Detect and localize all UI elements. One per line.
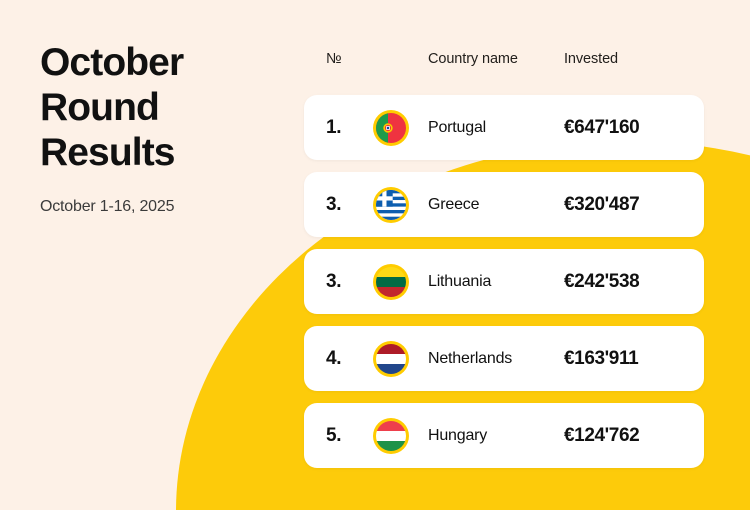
invested-value: €242'538 [564, 271, 682, 293]
rank-value: 3. [326, 194, 372, 216]
rank-value: 3. [326, 271, 372, 293]
flag-netherlands-icon [372, 340, 428, 378]
header-country: Country name [428, 51, 564, 67]
invested-value: €163'911 [564, 348, 682, 370]
table-row[interactable]: 3. [304, 172, 704, 237]
title-block: October Round Results October 1-16, 2025 [40, 40, 285, 217]
country-name: Greece [428, 196, 564, 214]
flag-portugal-icon [372, 109, 410, 147]
table-row[interactable]: 3. Lithuania €242'538 [304, 249, 704, 314]
table-body: 1. Portugal [304, 95, 704, 468]
invested-value: €320'487 [564, 194, 682, 216]
results-table: № Country name Invested 1. [304, 44, 704, 468]
header-invested: Invested [564, 51, 682, 67]
table-row[interactable]: 4. Netherlands €163'911 [304, 326, 704, 391]
invested-value: €124'762 [564, 425, 682, 447]
flag-hungary-icon [372, 417, 428, 455]
date-range-subtitle: October 1-16, 2025 [40, 197, 285, 217]
country-name: Lithuania [428, 273, 564, 291]
table-row[interactable]: 5. Hungary €124'762 [304, 403, 704, 468]
page-title: October Round Results [40, 40, 285, 175]
header-number: № [326, 51, 372, 67]
flag-greece-icon [372, 186, 410, 224]
flag-greece-icon [372, 186, 428, 224]
country-name: Hungary [428, 427, 564, 445]
rank-value: 1. [326, 117, 372, 139]
table-row[interactable]: 1. Portugal [304, 95, 704, 160]
rank-value: 4. [326, 348, 372, 370]
invested-value: €647'160 [564, 117, 682, 139]
table-header-row: № Country name Invested [304, 44, 704, 74]
country-name: Portugal [428, 119, 564, 137]
country-name: Netherlands [428, 350, 564, 368]
flag-lithuania-icon [372, 263, 410, 301]
flag-hungary-icon [372, 417, 410, 455]
flag-netherlands-icon [372, 340, 410, 378]
flag-portugal-icon [372, 109, 428, 147]
flag-lithuania-icon [372, 263, 428, 301]
results-card: October Round Results October 1-16, 2025… [0, 0, 750, 510]
rank-value: 5. [326, 425, 372, 447]
